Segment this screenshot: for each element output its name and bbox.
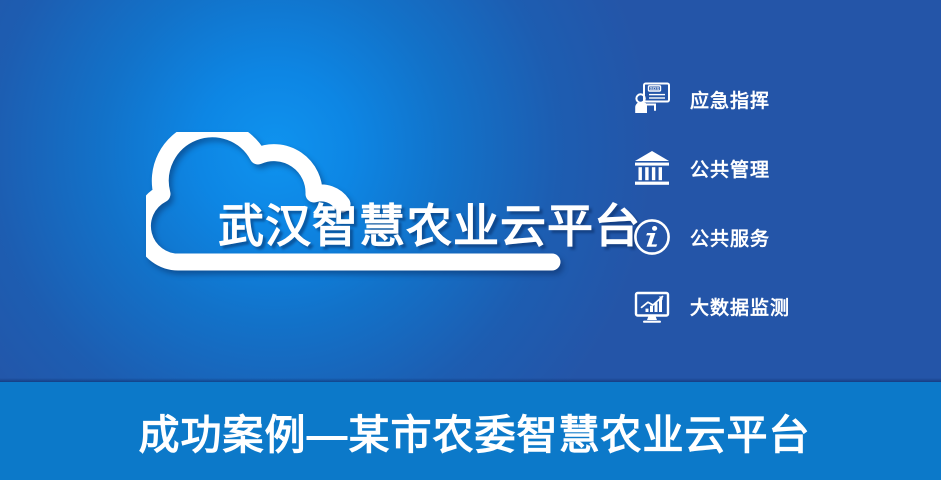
feature-list: SOS 应急指挥	[630, 78, 890, 327]
feature-item-public-management[interactable]: 公共管理	[630, 147, 890, 189]
feature-item-public-service[interactable]: 公共服务	[630, 216, 890, 258]
feature-label-big-data-monitoring: 大数据监测	[690, 293, 790, 320]
feature-label-public-management: 公共管理	[690, 155, 770, 182]
government-building-icon	[630, 147, 674, 189]
caption-title: 成功案例—某市农委智慧农业云平台	[139, 401, 811, 461]
feature-label-public-service: 公共服务	[690, 224, 770, 251]
sos-emergency-screen-icon: SOS	[630, 78, 674, 120]
platform-logo: 武汉智慧农业云平台	[146, 132, 566, 282]
monitor-chart-icon	[630, 285, 674, 327]
svg-text:SOS: SOS	[650, 86, 659, 91]
feature-item-big-data-monitoring[interactable]: 大数据监测	[630, 285, 890, 327]
slide-canvas: 武汉智慧农业云平台 SOS 应急指挥	[0, 0, 941, 480]
feature-item-emergency-command[interactable]: SOS 应急指挥	[630, 78, 890, 120]
feature-label-emergency-command: 应急指挥	[690, 86, 770, 113]
info-circle-icon	[630, 216, 674, 258]
caption-band: 成功案例—某市农委智慧农业云平台	[0, 382, 941, 480]
platform-title: 武汉智慧农业云平台	[218, 200, 641, 252]
